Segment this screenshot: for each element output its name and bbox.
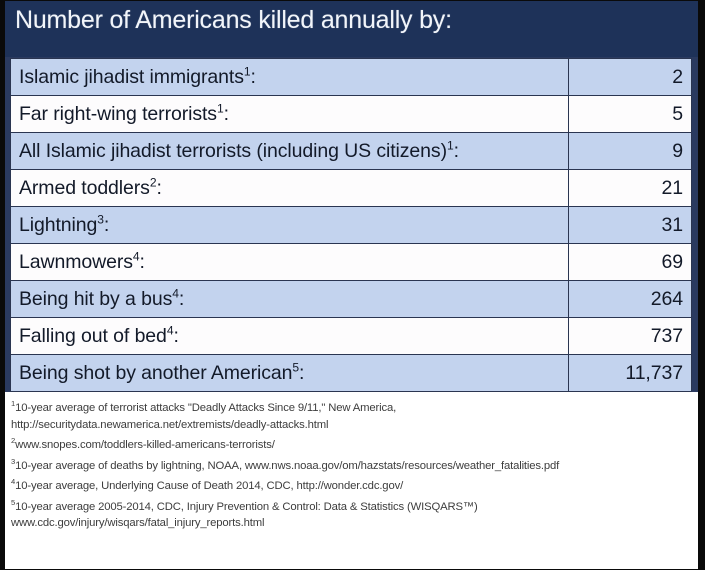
table-row: Being shot by another American5: 11,737 (11, 355, 692, 392)
table-row: Armed toddlers2: 21 (11, 170, 692, 207)
row-label-cell: Armed toddlers2: (11, 170, 569, 207)
row-footnote-marker: 1 (447, 138, 454, 152)
row-value-cell: 9 (569, 133, 692, 170)
row-label-cell: Being hit by a bus4: (11, 281, 569, 318)
row-label: Falling out of bed (19, 325, 167, 347)
footnote-entry-1: 110-year average of terrorist attacks "D… (11, 400, 690, 417)
row-label-cell: Lightning3: (11, 207, 569, 244)
row-value-cell: 69 (569, 244, 692, 281)
row-value-cell: 264 (569, 281, 692, 318)
footnote-entry-5-url: www.cdc.gov/injury/wisqars/fatal_injury_… (11, 515, 690, 532)
infographic-panel: Number of Americans killed annually by: … (0, 0, 705, 570)
row-label: Far right-wing terrorists (19, 103, 217, 125)
table-row: Islamic jihadist immigrants1: 2 (11, 59, 692, 96)
row-footnote-marker: 5 (292, 360, 299, 374)
table-row: Falling out of bed4: 737 (11, 318, 692, 355)
row-footnote-marker: 1 (244, 64, 251, 78)
footnote-text: 10-year average 2005-2014, CDC, Injury P… (15, 501, 478, 513)
row-label: Being shot by another American (19, 362, 292, 384)
row-value-cell: 31 (569, 207, 692, 244)
footnote-entry-3: 310-year average of deaths by lightning,… (11, 458, 690, 475)
row-footnote-marker: 3 (97, 212, 104, 226)
row-label-cell: Islamic jihadist immigrants1: (11, 59, 569, 96)
page-title: Number of Americans killed annually by: (15, 5, 452, 35)
row-label: Lawnmowers (19, 251, 133, 273)
table-row: Being hit by a bus4: 264 (11, 281, 692, 318)
footnote-url: www.cdc.gov/injury/wisqars/fatal_injury_… (11, 517, 264, 529)
footnote-text: 10-year average of terrorist attacks "De… (15, 402, 396, 414)
footnote-entry-1-url: http://securitydata.newamerica.net/extre… (11, 417, 690, 434)
row-label-cell: Far right-wing terrorists1: (11, 96, 569, 133)
footnote-url: www.snopes.com/toddlers-killed-americans… (15, 439, 275, 451)
footnote-entry-4: 410-year average, Underlying Cause of De… (11, 478, 690, 495)
row-footnote-marker: 2 (150, 175, 157, 189)
table-row: Lawnmowers4: 69 (11, 244, 692, 281)
row-value-cell: 21 (569, 170, 692, 207)
row-label-cell: Lawnmowers4: (11, 244, 569, 281)
deaths-table: Islamic jihadist immigrants1: 2 Far righ… (10, 58, 692, 392)
row-label-cell: All Islamic jihadist terrorists (includi… (11, 133, 569, 170)
row-value-cell: 5 (569, 96, 692, 133)
row-value-cell: 737 (569, 318, 692, 355)
row-label-cell: Being shot by another American5: (11, 355, 569, 392)
row-label: Lightning (19, 214, 97, 236)
table-row: Lightning3: 31 (11, 207, 692, 244)
table-body: Islamic jihadist immigrants1: 2 Far righ… (11, 59, 692, 392)
row-label: Being hit by a bus (19, 288, 172, 310)
title-band: Number of Americans killed annually by: (5, 1, 698, 57)
row-footnote-marker: 4 (172, 286, 179, 300)
footnote-entry-2: 2www.snopes.com/toddlers-killed-american… (11, 437, 690, 454)
footnote-text: 10-year average of deaths by lightning, … (15, 460, 559, 472)
footnote-url: http://securitydata.newamerica.net/extre… (11, 419, 328, 431)
footnotes-section: 110-year average of terrorist attacks "D… (5, 392, 698, 532)
row-label: Armed toddlers (19, 177, 150, 199)
row-label: Islamic jihadist immigrants (19, 66, 244, 88)
row-footnote-marker: 1 (217, 101, 224, 115)
row-label-cell: Falling out of bed4: (11, 318, 569, 355)
row-value-cell: 2 (569, 59, 692, 96)
row-footnote-marker: 4 (167, 323, 174, 337)
footnote-entry-5: 510-year average 2005-2014, CDC, Injury … (11, 499, 690, 516)
row-value-cell: 11,737 (569, 355, 692, 392)
table-row: Far right-wing terrorists1: 5 (11, 96, 692, 133)
row-label: All Islamic jihadist terrorists (includi… (19, 140, 447, 162)
row-footnote-marker: 4 (133, 249, 140, 263)
data-table-container: Islamic jihadist immigrants1: 2 Far righ… (5, 57, 698, 392)
footnote-text: 10-year average, Underlying Cause of Dea… (15, 480, 403, 492)
table-row: All Islamic jihadist terrorists (includi… (11, 133, 692, 170)
